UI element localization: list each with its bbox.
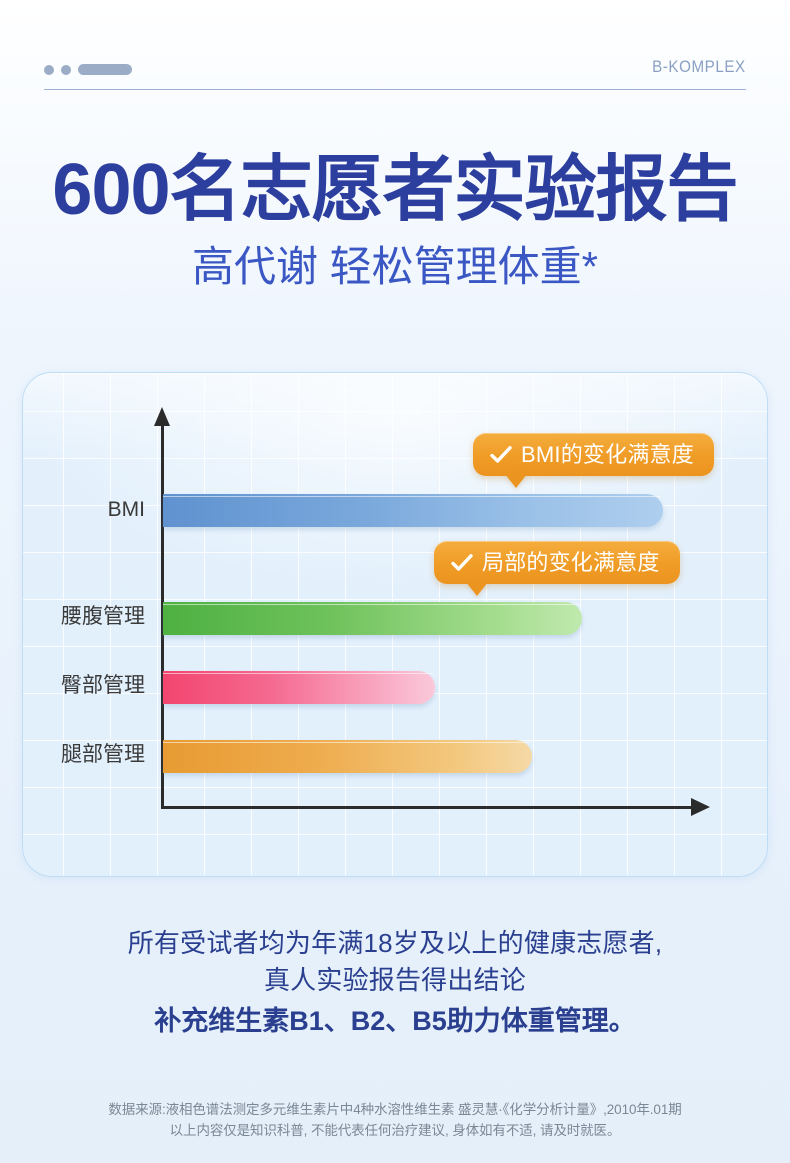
footnote-block: 数据来源:液相色谱法测定多元维生素片中4种水溶性维生素 盛灵慧·《化学分析计量》… (0, 1100, 790, 1141)
window-dot-icon (44, 65, 54, 75)
check-icon (490, 446, 512, 464)
callout-bmi-satisfaction[interactable]: BMI的变化满意度 (473, 433, 714, 476)
brand-label: B-KOMPLEX (652, 58, 746, 77)
bar-leg (163, 740, 532, 773)
page-subtitle: 高代谢 轻松管理体重* (0, 244, 790, 290)
callout-local-satisfaction[interactable]: 局部的变化满意度 (434, 541, 680, 584)
x-axis-line (161, 806, 695, 809)
x-axis-arrow-icon (691, 798, 710, 816)
title-block: 600名志愿者实验报告 高代谢 轻松管理体重* (0, 152, 790, 290)
conclusion-line-3: 补充维生素B1、B2、B5助力体重管理。 (0, 1002, 790, 1040)
callout-tail-icon (466, 582, 488, 596)
page-title: 600名志愿者实验报告 (0, 152, 790, 230)
window-controls (44, 64, 132, 75)
callout-tail-icon (505, 474, 527, 488)
footnote-line-1: 数据来源:液相色谱法测定多元维生素片中4种水溶性维生素 盛灵慧·《化学分析计量》… (0, 1100, 790, 1121)
axis-label-waist: 腰腹管理 (22, 606, 145, 627)
check-icon (451, 554, 473, 572)
footnote-line-2: 以上内容仅是知识科普, 不能代表任何治疗建议, 身体如有不适, 请及时就医。 (0, 1121, 790, 1142)
page-header: B-KOMPLEX (44, 52, 746, 90)
axis-label-hip: 臀部管理 (22, 675, 145, 696)
bar-waist (163, 602, 582, 635)
y-axis-arrow-icon (154, 407, 170, 426)
conclusion-line-1: 所有受试者均为年满18岁及以上的健康志愿者, (0, 925, 790, 962)
window-dot-icon (61, 65, 71, 75)
axis-label-bmi: BMI (22, 499, 145, 520)
bar-bmi (163, 494, 663, 527)
conclusion-block: 所有受试者均为年满18岁及以上的健康志愿者, 真人实验报告得出结论 补充维生素B… (0, 925, 790, 1040)
axis-label-leg: 腿部管理 (22, 744, 145, 765)
window-bar-icon (78, 64, 132, 75)
callout-bmi-label: BMI的变化满意度 (521, 444, 694, 466)
bar-hip (163, 671, 435, 704)
chart-card: BMI 腰腹管理 臀部管理 腿部管理 BMI的变化满意度 局部的变化满意度 (22, 372, 768, 877)
callout-local-label: 局部的变化满意度 (482, 552, 660, 574)
conclusion-line-2: 真人实验报告得出结论 (0, 962, 790, 999)
